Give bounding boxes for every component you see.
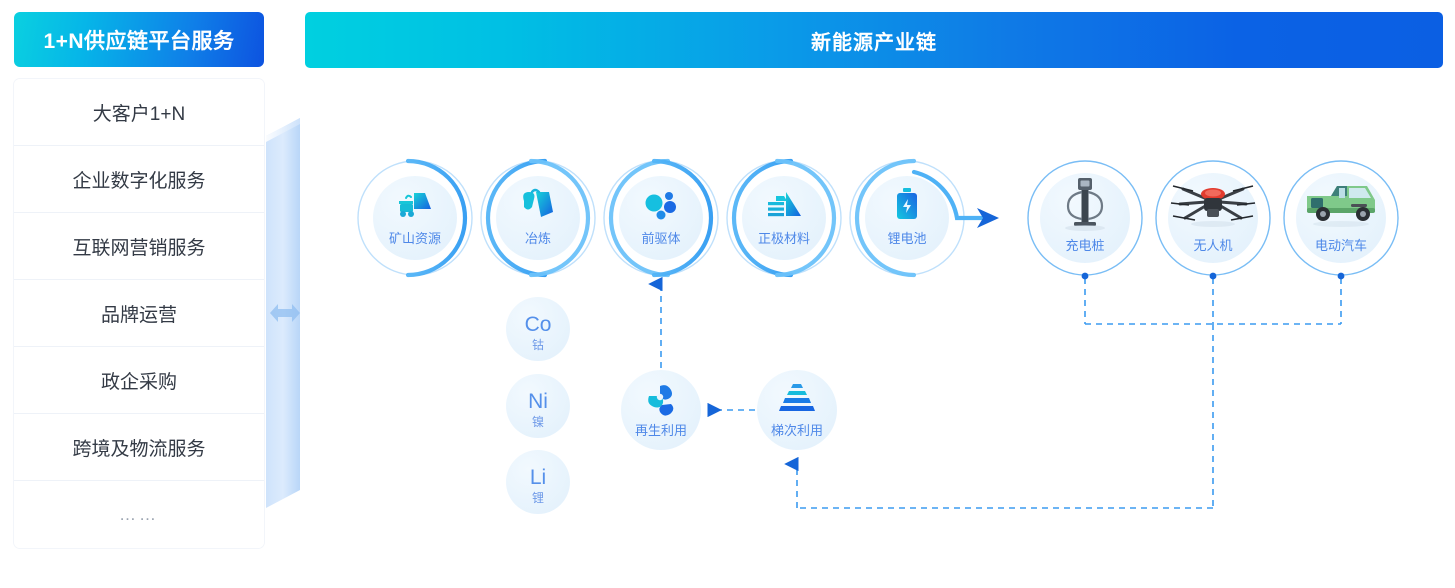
sidebar-item-label: 互联网营销服务 (72, 233, 205, 260)
chain-node-label: 正极材料 (758, 228, 810, 247)
application-node-drone[interactable]: 无人机 (1173, 235, 1253, 254)
recycle-node-label: 再生利用 (635, 420, 687, 439)
sidebar-item-brand-operation[interactable]: 品牌运营 (14, 280, 264, 347)
chain-node-label: 锂电池 (887, 228, 926, 247)
chain-node-battery[interactable]: 锂电池 (867, 228, 947, 247)
sidebar-item-government-procurement[interactable]: 政企采购 (14, 347, 264, 414)
diagram-svg (305, 72, 1443, 576)
sidebar-item-cross-border-logistics[interactable]: 跨境及物流服务 (14, 414, 264, 481)
application-node-charger[interactable]: 充电桩 (1045, 235, 1125, 254)
application-node-label: 充电桩 (1065, 235, 1104, 254)
sidebar-item-key-account[interactable]: 大客户1+N (14, 79, 264, 146)
chain-node-label: 矿山资源 (389, 228, 441, 247)
sidebar-item-label: 大客户1+N (93, 99, 185, 126)
page-title: 新能源产业链 (811, 26, 937, 55)
divider-panel (262, 118, 308, 508)
chain-node-label: 前驱体 (641, 228, 680, 247)
application-node-ev[interactable]: 电动汽车 (1301, 235, 1381, 254)
sidebar-item-digitalization[interactable]: 企业数字化服务 (14, 146, 264, 213)
chain-node-precursor[interactable]: 前驱体 (621, 228, 701, 247)
sidebar-title: 1+N供应链平台服务 (14, 12, 264, 67)
element-name: 锂 (532, 489, 544, 506)
element-name: 钴 (532, 336, 544, 353)
chain-node-label: 冶炼 (525, 228, 551, 247)
flow-junction-dots (1082, 273, 1345, 280)
element-symbol: Ni (528, 391, 548, 413)
element-node-lithium[interactable]: Li 锂 (508, 467, 568, 506)
sidebar-item-label: 品牌运营 (101, 300, 177, 327)
element-symbol: Li (530, 467, 546, 489)
main-header: 新能源产业链 (305, 12, 1443, 68)
chain-node-cathode[interactable]: 正极材料 (744, 228, 824, 247)
sidebar-item-label: 跨境及物流服务 (72, 434, 205, 461)
recycle-node-cascade[interactable]: 梯次利用 (757, 420, 837, 439)
application-node-label: 无人机 (1193, 235, 1232, 254)
element-symbol: Co (525, 314, 552, 336)
main-panel: 新能源产业链 (305, 12, 1443, 576)
sidebar-item-label: 企业数字化服务 (72, 166, 205, 193)
element-node-nickel[interactable]: Ni 镍 (508, 391, 568, 430)
diagram-canvas: 矿山资源 冶炼 前驱体 正极材料 锂电池 充电桩 无人机 电动汽车 Co 钴 (305, 72, 1443, 576)
chain-node-mine[interactable]: 矿山资源 (375, 228, 455, 247)
sidebar-item-label: 政企采购 (101, 367, 177, 394)
sidebar-item-internet-marketing[interactable]: 互联网营销服务 (14, 213, 264, 280)
element-name: 镍 (532, 413, 544, 430)
sidebar-item-label: …… (119, 505, 159, 525)
application-node-label: 电动汽车 (1315, 235, 1367, 254)
sidebar-item-more[interactable]: …… (14, 481, 264, 548)
flow-applications-to-bus (797, 278, 1341, 508)
sidebar: 1+N供应链平台服务 大客户1+N 企业数字化服务 互联网营销服务 品牌运营 政… (14, 12, 264, 576)
recycle-node-regeneration[interactable]: 再生利用 (621, 420, 701, 439)
element-node-cobalt[interactable]: Co 钴 (508, 314, 568, 353)
recycle-node-label: 梯次利用 (771, 420, 823, 439)
sidebar-item-list: 大客户1+N 企业数字化服务 互联网营销服务 品牌运营 政企采购 跨境及物流服务… (14, 79, 264, 548)
chain-node-smelt[interactable]: 冶炼 (498, 228, 578, 247)
